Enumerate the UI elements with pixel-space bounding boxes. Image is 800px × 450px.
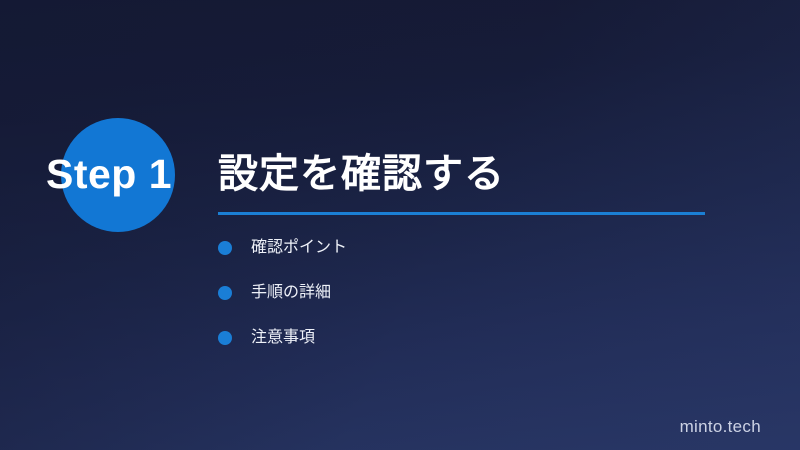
bullet-dot-icon <box>218 331 232 345</box>
bullet-dot-icon <box>218 286 232 300</box>
list-item-label: 手順の詳細 <box>251 283 331 303</box>
list-item: 手順の詳細 <box>218 283 347 303</box>
list-item-label: 確認ポイント <box>251 238 347 258</box>
presentation-slide: Step 1 設定を確認する 確認ポイント 手順の詳細 注意事項 minto.t… <box>0 0 800 450</box>
step-badge-label: Step 1 <box>46 151 172 197</box>
bullet-list: 確認ポイント 手順の詳細 注意事項 <box>218 238 347 348</box>
list-item: 確認ポイント <box>218 238 347 258</box>
bullet-dot-icon <box>218 241 232 255</box>
list-item-label: 注意事項 <box>251 328 315 348</box>
slide-title: 設定を確認する <box>218 149 505 199</box>
footer-brand: minto.tech <box>680 417 761 437</box>
list-item: 注意事項 <box>218 328 347 348</box>
title-divider <box>218 212 705 215</box>
